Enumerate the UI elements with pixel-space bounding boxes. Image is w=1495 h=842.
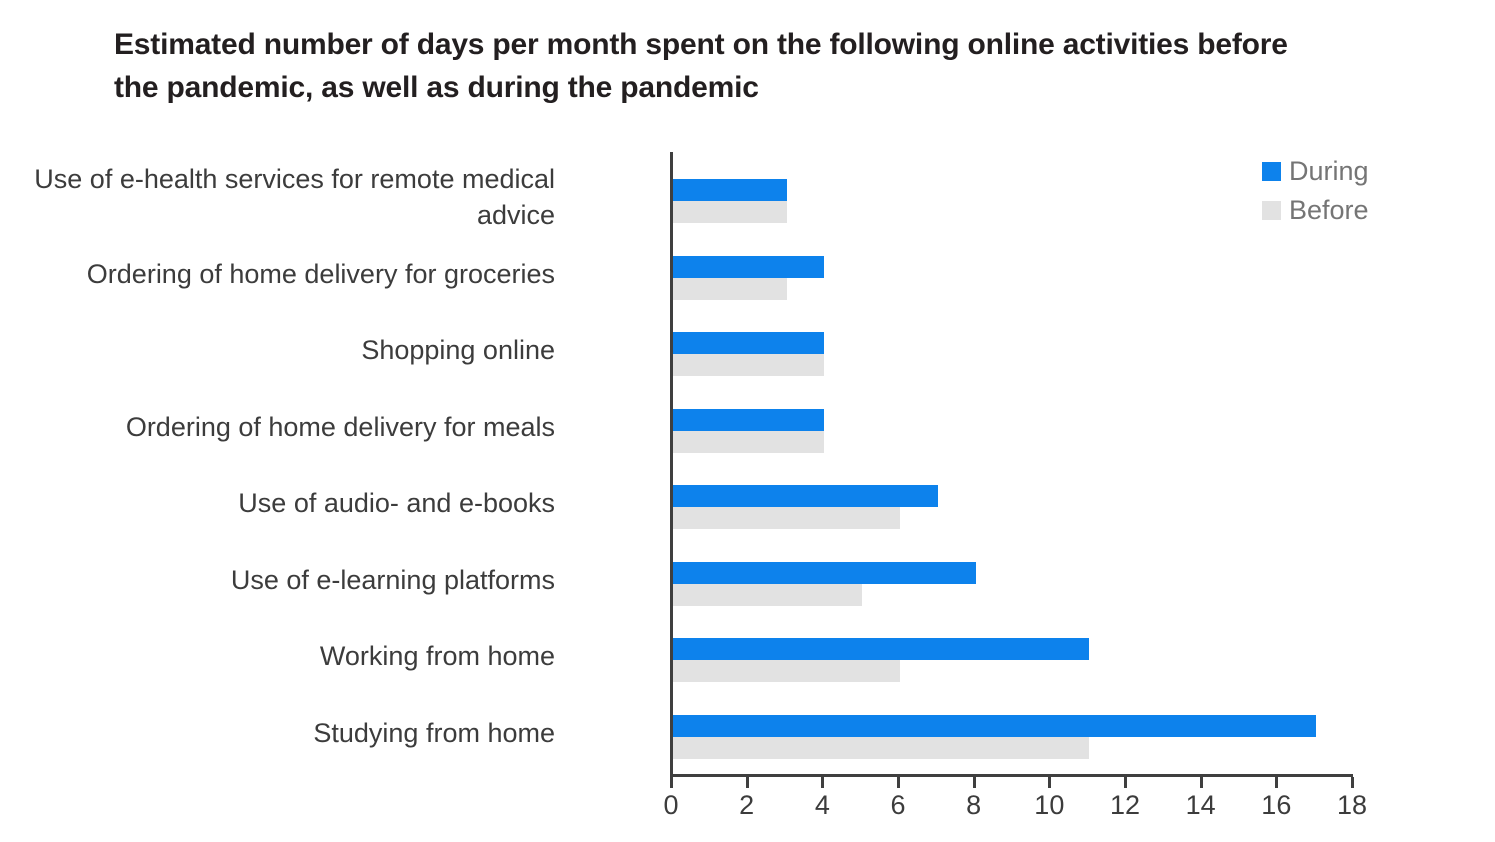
bar-pair [673, 256, 824, 300]
bar-before [673, 584, 862, 606]
bar-during [673, 638, 1089, 660]
bar-during [673, 485, 938, 507]
bar-before [673, 354, 824, 376]
legend-swatch-icon [1262, 162, 1281, 181]
legend-label: During [1289, 158, 1369, 185]
category-label: Use of e-learning platforms [0, 563, 555, 599]
category-label: Use of e-health services for remote medi… [0, 162, 555, 233]
chart-legend: DuringBefore [1262, 152, 1432, 230]
bar-group: Studying from home [0, 688, 1400, 764]
x-axis-tick-label: 8 [944, 790, 1004, 821]
bar-during [673, 332, 824, 354]
bar-pair [673, 485, 938, 529]
x-axis-tick-label: 18 [1322, 790, 1382, 821]
bar-pair [673, 409, 824, 453]
bar-before [673, 507, 900, 529]
bar-during [673, 179, 787, 201]
x-axis-tick-label: 16 [1246, 790, 1306, 821]
x-axis-tick-label: 14 [1171, 790, 1231, 821]
bar-pair [673, 332, 824, 376]
category-label: Shopping online [0, 333, 555, 369]
bar-during [673, 562, 976, 584]
bar-group: Use of e-learning platforms [0, 535, 1400, 611]
bar-pair [673, 562, 976, 606]
legend-item-before[interactable]: Before [1262, 191, 1432, 230]
x-axis-tick [746, 777, 749, 788]
bar-group: Shopping online [0, 305, 1400, 381]
category-label: Working from home [0, 639, 555, 675]
x-axis-tick-label: 4 [792, 790, 852, 821]
legend-item-during[interactable]: During [1262, 152, 1432, 191]
bar-pair [673, 715, 1316, 759]
x-axis-tick [821, 777, 824, 788]
legend-swatch-icon [1262, 201, 1281, 220]
x-axis-tick-label: 10 [1019, 790, 1079, 821]
x-axis-tick-label: 6 [868, 790, 928, 821]
x-axis-tick [1048, 777, 1051, 788]
x-axis-tick-label: 12 [1095, 790, 1155, 821]
bar-group: Use of e-health services for remote medi… [0, 152, 1400, 228]
x-axis-tick-label: 2 [717, 790, 777, 821]
bar-before [673, 737, 1089, 759]
bar-before [673, 660, 900, 682]
bar-pair [673, 179, 787, 223]
bar-during [673, 409, 824, 431]
category-label: Ordering of home delivery for meals [0, 410, 555, 446]
bar-before [673, 431, 824, 453]
bar-before [673, 201, 787, 223]
x-axis-tick [973, 777, 976, 788]
category-label: Use of audio- and e-books [0, 486, 555, 522]
bar-group: Working from home [0, 611, 1400, 687]
x-axis-line [670, 774, 1353, 777]
bar-group: Ordering of home delivery for groceries [0, 229, 1400, 305]
x-axis-tick [670, 777, 673, 788]
bar-pair [673, 638, 1089, 682]
plot-area: 024681012141618 Use of e-health services… [0, 0, 1495, 842]
x-axis-tick-label: 0 [641, 790, 701, 821]
x-axis-tick [1275, 777, 1278, 788]
category-label: Studying from home [0, 716, 555, 752]
x-axis-tick [897, 777, 900, 788]
bar-group: Use of audio- and e-books [0, 458, 1400, 534]
chart-canvas: Estimated number of days per month spent… [0, 0, 1495, 842]
bar-group: Ordering of home delivery for meals [0, 382, 1400, 458]
x-axis-tick [1351, 777, 1354, 788]
x-axis-tick [1124, 777, 1127, 788]
category-label: Ordering of home delivery for groceries [0, 257, 555, 293]
bar-during [673, 256, 824, 278]
legend-label: Before [1289, 197, 1369, 224]
x-axis-tick [1200, 777, 1203, 788]
bar-during [673, 715, 1316, 737]
bar-before [673, 278, 787, 300]
